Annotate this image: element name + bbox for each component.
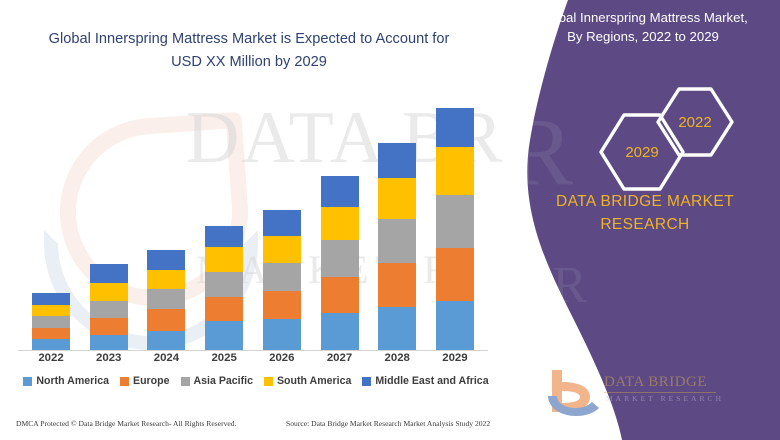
x-axis-label: 2026 <box>263 352 301 374</box>
panel-title-line2: By Regions, 2022 to 2029 <box>512 27 774 46</box>
panel-brand-name: DATA BRIDGE MARKET RESEARCH <box>525 190 765 237</box>
legend-label: Europe <box>133 375 170 387</box>
bar-segment[interactable] <box>263 210 301 236</box>
stacked-bar[interactable] <box>32 293 70 350</box>
legend-item[interactable]: Europe <box>120 375 170 387</box>
bar-segment[interactable] <box>147 309 185 330</box>
legend-swatch <box>120 377 129 386</box>
bar-segment[interactable] <box>147 250 185 269</box>
bar-segment[interactable] <box>205 272 243 297</box>
panel-title-line1: Global Innerspring Mattress Market, <box>538 10 748 25</box>
bar-segment[interactable] <box>90 335 128 350</box>
bar-group <box>205 226 243 350</box>
x-axis-label: 2024 <box>147 352 185 374</box>
bar-segment[interactable] <box>263 319 301 350</box>
bar-segment[interactable] <box>147 270 185 289</box>
legend-item[interactable]: North America <box>23 375 109 387</box>
infographic-canvas: DATA BR MARKET R BR MR Global Innersprin… <box>0 0 780 440</box>
bar-segment[interactable] <box>436 248 474 301</box>
bar-segment[interactable] <box>90 301 128 318</box>
bar-group <box>321 176 359 350</box>
bar-segment[interactable] <box>205 247 243 271</box>
bar-group <box>32 293 70 350</box>
x-axis-label: 2025 <box>205 352 243 374</box>
stacked-bar[interactable] <box>205 226 243 350</box>
bar-segment[interactable] <box>436 147 474 196</box>
chart-x-axis-labels: 20222023202420252026202720282029 <box>18 352 488 374</box>
panel-brand-line2: RESEARCH <box>525 213 765 236</box>
hexagon-badge-2022: 2022 <box>655 86 735 158</box>
legend-item[interactable]: Middle East and Africa <box>362 375 488 387</box>
stacked-bar[interactable] <box>263 210 301 350</box>
footer-copyright: DMCA Protected © Data Bridge Market Rese… <box>16 419 236 428</box>
legend-label: Asia Pacific <box>194 375 253 387</box>
bar-segment[interactable] <box>263 236 301 262</box>
chart-plot-area <box>18 104 488 350</box>
bar-segment[interactable] <box>32 293 70 305</box>
stacked-bar[interactable] <box>90 264 128 350</box>
bar-segment[interactable] <box>90 283 128 301</box>
legend-swatch <box>264 377 273 386</box>
x-axis-label: 2027 <box>321 352 359 374</box>
bar-segment[interactable] <box>90 264 128 283</box>
panel-brand-line1: DATA BRIDGE MARKET <box>525 190 765 213</box>
bar-segment[interactable] <box>263 263 301 291</box>
bar-segment[interactable] <box>32 339 70 350</box>
dbmr-logo-text: DATA BRIDGE <box>604 374 707 391</box>
bar-segment[interactable] <box>378 219 416 263</box>
bar-segment[interactable] <box>147 289 185 309</box>
dbmr-logo-subtext: MARKET RESEARCH <box>606 394 724 403</box>
panel-title: Global Innerspring Mattress Market, By R… <box>512 8 774 46</box>
bar-segment[interactable] <box>378 143 416 179</box>
bar-segment[interactable] <box>205 297 243 321</box>
bar-segment[interactable] <box>205 226 243 247</box>
bar-segment[interactable] <box>436 108 474 147</box>
page-title-line2: USD XX Million by 2029 <box>18 51 480 74</box>
page-title: Global Innerspring Mattress Market is Ex… <box>18 28 480 75</box>
bar-segment[interactable] <box>378 178 416 219</box>
stacked-bar[interactable] <box>436 108 474 350</box>
bar-segment[interactable] <box>32 328 70 339</box>
bar-segment[interactable] <box>321 313 359 350</box>
bar-group <box>90 264 128 350</box>
stacked-bar[interactable] <box>378 143 416 350</box>
bar-segment[interactable] <box>90 318 128 334</box>
bar-segment[interactable] <box>321 207 359 241</box>
bar-segment[interactable] <box>32 305 70 316</box>
x-axis-label: 2022 <box>32 352 70 374</box>
bar-segment[interactable] <box>147 331 185 350</box>
chart-x-axis <box>18 350 488 351</box>
bar-segment[interactable] <box>205 321 243 349</box>
legend-label: Middle East and Africa <box>375 375 488 387</box>
bar-group <box>263 210 301 350</box>
bar-segment[interactable] <box>263 291 301 319</box>
legend-swatch <box>181 377 190 386</box>
legend-label: North America <box>36 375 109 387</box>
legend-item[interactable]: South America <box>264 375 351 387</box>
x-axis-label: 2028 <box>378 352 416 374</box>
stacked-bar[interactable] <box>321 176 359 350</box>
legend-item[interactable]: Asia Pacific <box>181 375 253 387</box>
bar-segment[interactable] <box>436 195 474 248</box>
bar-segment[interactable] <box>32 316 70 327</box>
bar-group <box>436 108 474 350</box>
bar-segment[interactable] <box>321 176 359 207</box>
bar-segment[interactable] <box>436 301 474 350</box>
stacked-bar[interactable] <box>147 250 185 350</box>
chart-legend: North AmericaEuropeAsia PacificSouth Ame… <box>14 375 498 387</box>
bar-group <box>378 143 416 350</box>
hexagon-badge-2022-label: 2022 <box>678 114 711 131</box>
bar-segment[interactable] <box>378 263 416 308</box>
dbmr-logo-divider <box>604 392 716 393</box>
hexagon-badge-2029-label: 2029 <box>625 144 658 161</box>
bar-segment[interactable] <box>321 240 359 277</box>
legend-label: South America <box>277 375 351 387</box>
legend-swatch <box>23 377 32 386</box>
x-axis-label: 2029 <box>436 352 474 374</box>
bar-segment[interactable] <box>378 307 416 350</box>
bar-segment[interactable] <box>321 277 359 314</box>
page-title-line1: Global Innerspring Mattress Market is Ex… <box>18 28 480 51</box>
footer-source: Source: Data Bridge Market Research Mark… <box>286 419 490 428</box>
x-axis-label: 2023 <box>90 352 128 374</box>
dbmr-logo: DATA BRIDGE MARKET RESEARCH <box>546 366 746 422</box>
bar-group <box>147 250 185 350</box>
legend-swatch <box>362 377 371 386</box>
stacked-bar-chart <box>18 104 488 350</box>
hexagon-badge-group: 2029 2022 <box>592 86 742 192</box>
dbmr-b-logo-icon <box>546 366 602 418</box>
